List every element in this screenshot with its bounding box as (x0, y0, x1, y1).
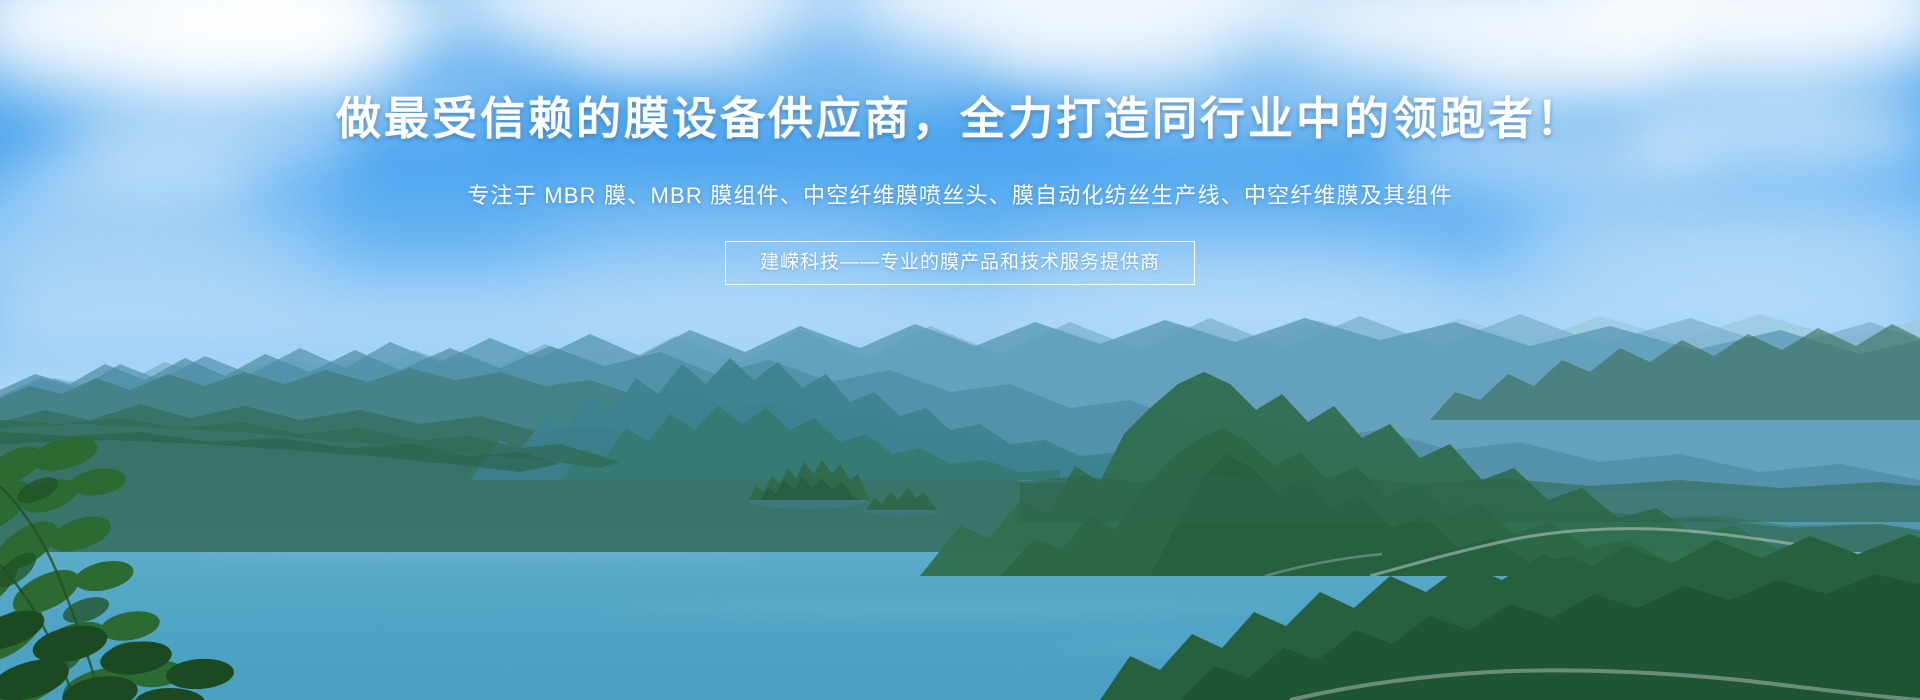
foreground-leaves-bottom (0, 600, 290, 700)
page-title: 做最受信赖的膜设备供应商，全力打造同行业中的领跑者！ (0, 96, 1920, 141)
hero-banner: 做最受信赖的膜设备供应商，全力打造同行业中的领跑者！ 专注于 MBR 膜、MBR… (0, 0, 1920, 700)
company-tagline-badge: 建嵘科技——专业的膜产品和技术服务提供商 (725, 241, 1195, 285)
tagline-container: 建嵘科技——专业的膜产品和技术服务提供商 (0, 241, 1920, 285)
page-subtitle: 专注于 MBR 膜、MBR 膜组件、中空纤维膜喷丝头、膜自动化纺丝生产线、中空纤… (0, 185, 1920, 207)
